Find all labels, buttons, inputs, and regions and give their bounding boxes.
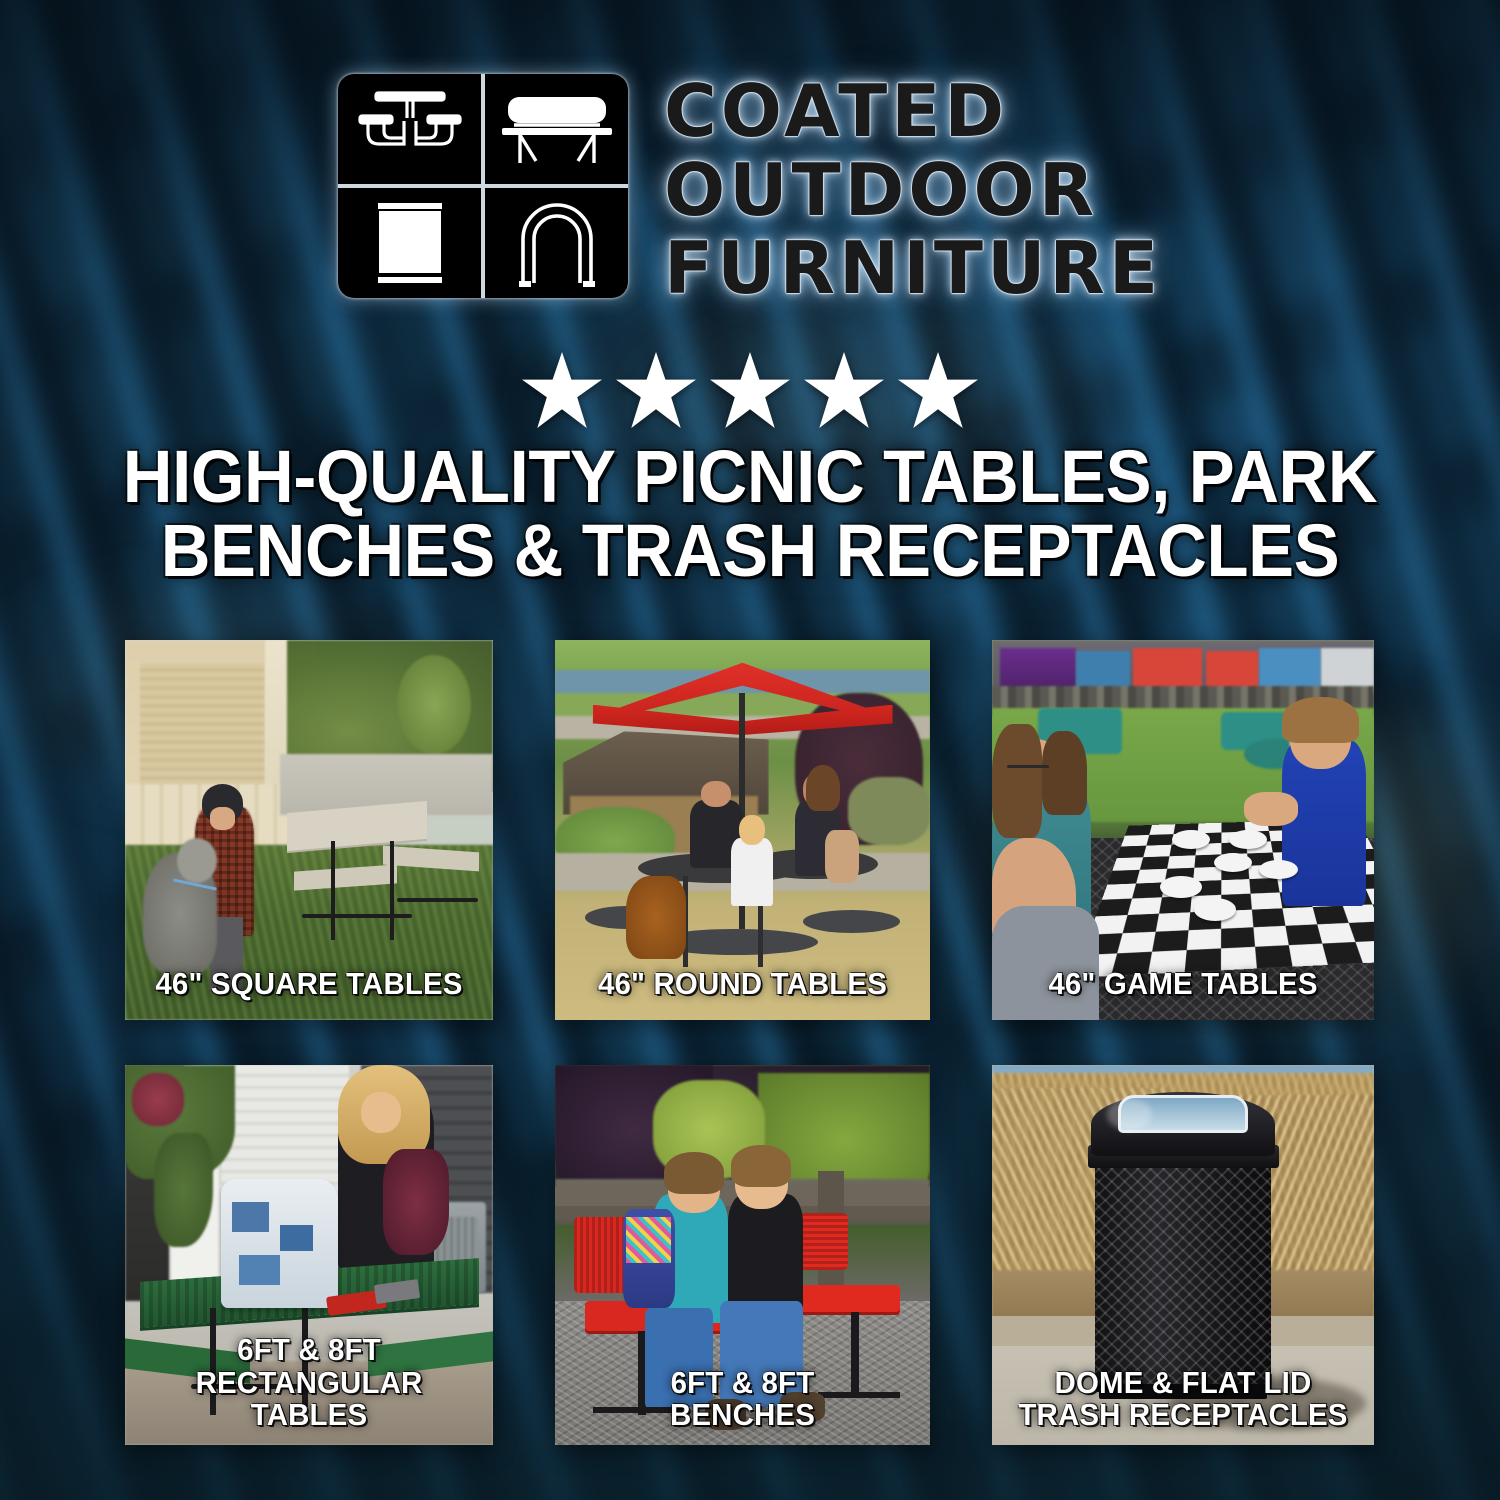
brand-wordmark: COATED OUTDOOR FURNITURE [664,74,1162,304]
star-icon [898,352,978,428]
page-title: HIGH-QUALITY PICNIC TABLES, PARK BENCHES… [118,440,1383,588]
scene-square-tables [125,640,493,1020]
product-tile-round-tables[interactable]: 46" ROUND TABLES [555,640,930,1020]
star-icon [804,352,884,428]
wordmark-line-furniture: FURNITURE [664,233,1162,304]
brand-header: COATED OUTDOOR FURNITURE [0,74,1500,304]
tile-caption: 6FT & 8FT BENCHES [572,1367,913,1431]
caption-line-2: TRASH RECEPTACLES [1009,1399,1357,1431]
caption-line-1: 46" ROUND TABLES [572,968,913,1000]
picnic-table-icon [338,74,481,184]
tile-caption: 46" ROUND TABLES [572,968,913,1000]
bench-icon [485,74,628,184]
headline-line-2: BENCHES & TRASH RECEPTACLES [118,514,1383,588]
wordmark-line-coated: COATED [664,76,1162,147]
tile-caption: DOME & FLAT LID TRASH RECEPTACLES [1009,1367,1357,1431]
scene-game-tables [992,640,1374,1020]
caption-line-2: BENCHES [572,1399,913,1431]
product-tile-trash-receptacles[interactable]: DOME & FLAT LID TRASH RECEPTACLES [992,1065,1374,1445]
wordmark-line-outdoor: OUTDOOR [664,155,1162,226]
product-tile-benches[interactable]: 6FT & 8FT BENCHES [555,1065,930,1445]
tile-caption: 46" SQUARE TABLES [142,968,476,1000]
product-tile-rectangular-tables[interactable]: 6FT & 8FT RECTANGULAR TABLES [125,1065,493,1445]
caption-line-1: 46" GAME TABLES [1009,968,1357,1000]
caption-line-1: 6FT & 8FT [572,1367,913,1399]
product-tile-game-tables[interactable]: 46" GAME TABLES [992,640,1374,1020]
caption-line-1: 46" SQUARE TABLES [142,968,476,1000]
star-icon [616,352,696,428]
arch-bike-rack-icon [485,188,628,298]
tile-caption: 6FT & 8FT RECTANGULAR TABLES [142,1334,476,1431]
trash-receptacle-icon [338,188,481,298]
tile-caption: 46" GAME TABLES [1009,968,1357,1000]
caption-line-2: RECTANGULAR TABLES [142,1367,476,1431]
scene-round-tables [555,640,930,1020]
caption-line-1: 6FT & 8FT [142,1334,476,1366]
logo-mark [338,74,628,298]
star-icon [522,352,602,428]
product-grid: 46" SQUARE TABLES [125,640,1383,1445]
star-icon [710,352,790,428]
product-tile-square-tables[interactable]: 46" SQUARE TABLES [125,640,493,1020]
star-rating [0,352,1500,428]
caption-line-1: DOME & FLAT LID [1009,1367,1357,1399]
headline-line-1: HIGH-QUALITY PICNIC TABLES, PARK [118,440,1383,514]
